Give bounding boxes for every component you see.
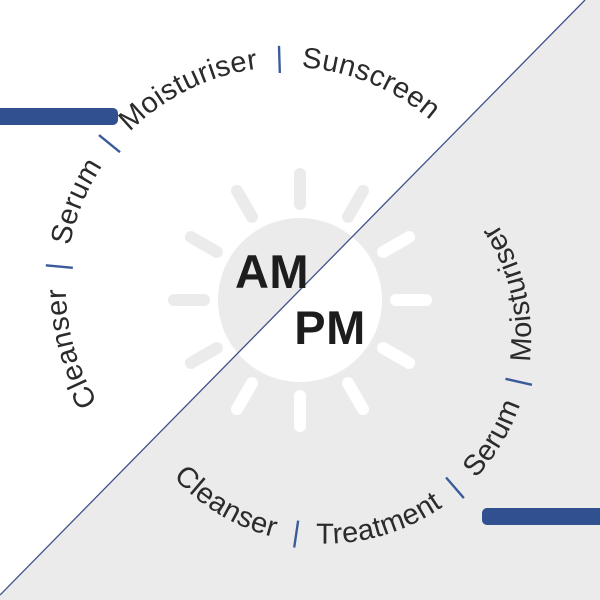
am-center-label: AM	[235, 245, 309, 298]
pm-center-label: PM	[294, 301, 366, 354]
am-separator-3: |	[275, 42, 284, 74]
routine-infographic: Cleanser | Serum | Moisturiser | Sunscre…	[0, 0, 600, 600]
accent-bar-bottom-right	[482, 508, 600, 525]
accent-bar-top-left	[0, 108, 118, 125]
infographic-canvas: Cleanser | Serum | Moisturiser | Sunscre…	[0, 0, 600, 600]
